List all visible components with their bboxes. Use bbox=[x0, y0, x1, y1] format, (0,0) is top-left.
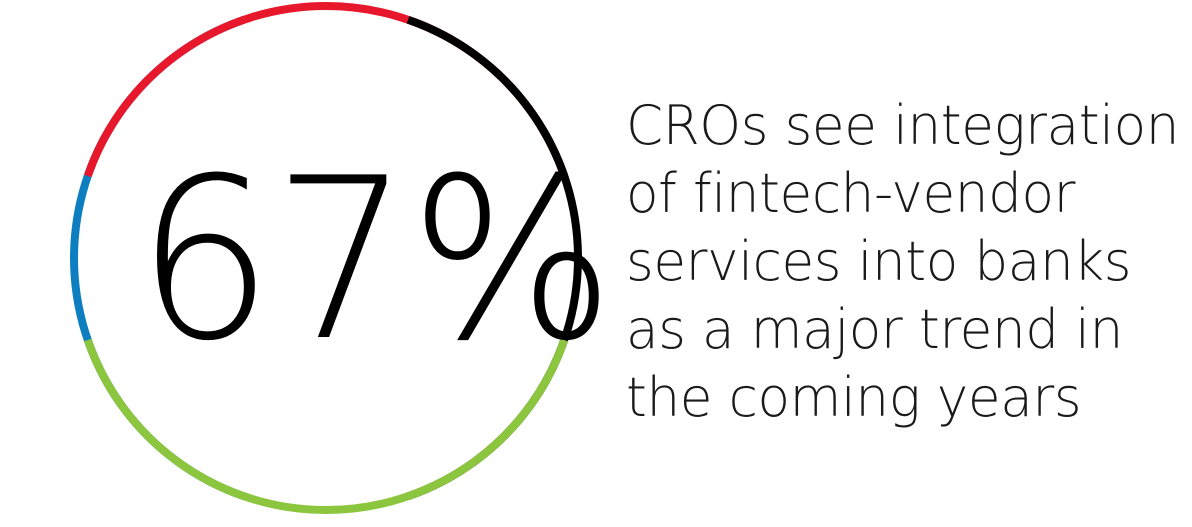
caption-line-4: as a major trend in bbox=[626, 296, 1174, 364]
infographic-canvas: 67% CROs see integration of fintech-vend… bbox=[0, 0, 1192, 527]
stat-ring-block: 67% bbox=[0, 0, 620, 527]
caption-line-5: the coming years bbox=[626, 364, 1174, 432]
caption-line-1: CROs see integration bbox=[626, 92, 1174, 160]
ring-segment-right-red bbox=[88, 6, 565, 176]
ring-segment-left-green bbox=[88, 340, 565, 510]
caption-block: CROs see integration of fintech-vendor s… bbox=[626, 92, 1182, 432]
segmented-ring-chart bbox=[0, 0, 620, 527]
caption-line-3: services into banks bbox=[626, 228, 1174, 296]
caption-line-2: of fintech-vendor bbox=[626, 160, 1174, 228]
ring-segment-top-blue bbox=[74, 20, 244, 497]
ring-segment-bottom-black bbox=[408, 20, 578, 497]
